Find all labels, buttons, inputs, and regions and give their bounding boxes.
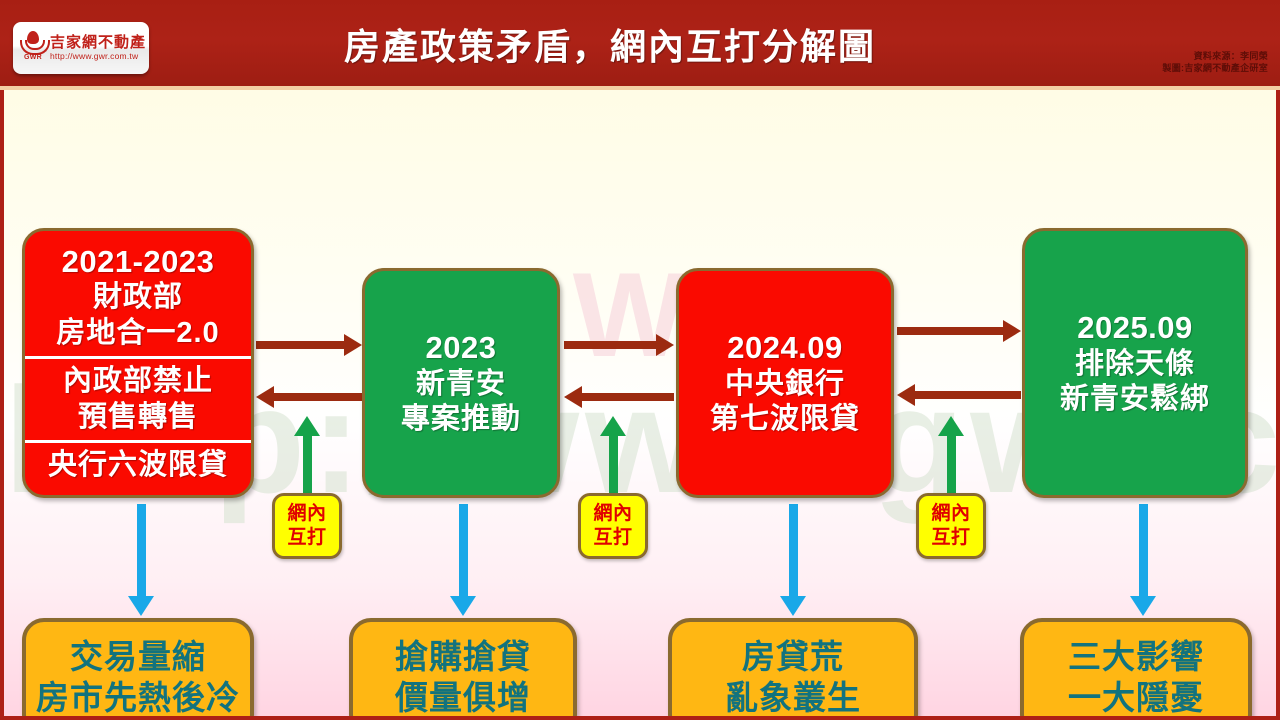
outcome-box-2[interactable]: 搶購搶貸 價量俱增 xyxy=(349,618,577,716)
node-line: 2025.09 xyxy=(1025,309,1245,347)
node-line: 房地合一2.0 xyxy=(25,316,251,351)
outcome-line: 三大影響 xyxy=(1068,636,1204,677)
house-drop-logo-icon: GWR xyxy=(20,31,46,65)
node-segment: 2023 新青安 專案推動 xyxy=(365,327,557,440)
brand-logo[interactable]: GWR 吉家網不動產 http://www.gwr.com.tw xyxy=(13,22,149,74)
arrow-badge1-upward xyxy=(294,416,320,494)
outcome-line: 交易量縮 xyxy=(70,636,206,677)
node-line: 財政部 xyxy=(25,280,251,315)
node-segment: 內政部禁止 預售轉售 xyxy=(25,362,251,437)
node-line: 新青安鬆綁 xyxy=(1025,382,1245,417)
node-line: 專案推動 xyxy=(365,402,557,437)
diagram-area: GWR http://www.gwr.com.tw xyxy=(4,90,1276,716)
node-line: 2024.09 xyxy=(679,329,891,367)
timeline-node-2023[interactable]: 2023 新青安 專案推動 xyxy=(362,268,560,498)
node-line: 第七波限貸 xyxy=(679,402,891,437)
arrow-node2-to-node3 xyxy=(564,334,674,356)
arrow-node2-to-outcome2 xyxy=(450,504,476,616)
credits-block: 資料來源：李同榮 製圖:吉家網不動產企研室 xyxy=(1162,50,1268,74)
logo-mark-label: GWR xyxy=(20,54,46,61)
arrow-node3-to-outcome3 xyxy=(780,504,806,616)
outcome-line: 房市先熱後冷 xyxy=(36,677,240,716)
node-segment: 央行六波限貸 xyxy=(25,446,251,485)
arrow-node1-to-outcome1 xyxy=(128,504,154,616)
node-segment: 2025.09 排除天條 新青安鬆綁 xyxy=(1025,307,1245,420)
arrow-badge3-upward xyxy=(938,416,964,494)
node-divider xyxy=(25,440,251,443)
node-divider xyxy=(25,356,251,359)
outcome-line: 一大隱憂 xyxy=(1068,677,1204,716)
node-line: 內政部禁止 xyxy=(25,364,251,399)
arrow-node3-to-node2 xyxy=(564,386,674,408)
conflict-badge-1[interactable]: 網內 互打 xyxy=(272,493,342,559)
arrow-badge2-upward xyxy=(600,416,626,494)
badge-line: 互打 xyxy=(593,526,632,550)
credit-source: 資料來源：李同榮 xyxy=(1162,50,1268,62)
node-segment: 2021-2023 財政部 房地合一2.0 xyxy=(25,241,251,354)
node-segment: 2024.09 中央銀行 第七波限貸 xyxy=(679,327,891,440)
outcome-line: 搶購搶貸 xyxy=(395,636,531,677)
conflict-badge-2[interactable]: 網內 互打 xyxy=(578,493,648,559)
badge-line: 網內 xyxy=(287,502,326,526)
arrow-node4-to-outcome4 xyxy=(1130,504,1156,616)
badge-line: 網內 xyxy=(593,502,632,526)
page-title: 房產政策矛盾，網內互打分解圖 xyxy=(180,18,1040,70)
node-line: 2023 xyxy=(365,329,557,367)
node-line: 排除天條 xyxy=(1025,347,1245,382)
node-line: 中央銀行 xyxy=(679,367,891,402)
node-line: 新青安 xyxy=(365,367,557,402)
arrow-node1-to-node2 xyxy=(256,334,362,356)
logo-website-url: http://www.gwr.com.tw xyxy=(50,52,146,61)
badge-line: 互打 xyxy=(287,526,326,550)
timeline-node-2025-09[interactable]: 2025.09 排除天條 新青安鬆綁 xyxy=(1022,228,1248,498)
arrow-node2-to-node1 xyxy=(256,386,362,408)
outcome-line: 房貸荒 xyxy=(742,636,844,677)
outcome-box-3[interactable]: 房貸荒 亂象叢生 xyxy=(668,618,918,716)
outcome-box-1[interactable]: 交易量縮 房市先熱後冷 xyxy=(22,618,254,716)
conflict-badge-3[interactable]: 網內 互打 xyxy=(916,493,986,559)
slide-canvas: GWR 吉家網不動產 http://www.gwr.com.tw 房產政策矛盾，… xyxy=(0,0,1280,720)
timeline-node-2024-09[interactable]: 2024.09 中央銀行 第七波限貸 xyxy=(676,268,894,498)
timeline-node-2021-2023[interactable]: 2021-2023 財政部 房地合一2.0 內政部禁止 預售轉售 央行六波限貸 xyxy=(22,228,254,498)
node-line: 2021-2023 xyxy=(25,243,251,281)
arrow-node3-to-node4 xyxy=(897,320,1021,342)
outcome-line: 價量俱增 xyxy=(395,677,531,716)
badge-line: 網內 xyxy=(931,502,970,526)
credit-producer: 製圖:吉家網不動產企研室 xyxy=(1162,62,1268,74)
arrow-node4-to-node3 xyxy=(897,384,1021,406)
logo-company-name: 吉家網不動產 xyxy=(50,35,146,51)
node-line: 預售轉售 xyxy=(25,400,251,435)
outcome-box-4[interactable]: 三大影響 一大隱憂 xyxy=(1020,618,1252,716)
badge-line: 互打 xyxy=(931,526,970,550)
outcome-line: 亂象叢生 xyxy=(725,677,861,716)
node-line: 央行六波限貸 xyxy=(25,448,251,483)
